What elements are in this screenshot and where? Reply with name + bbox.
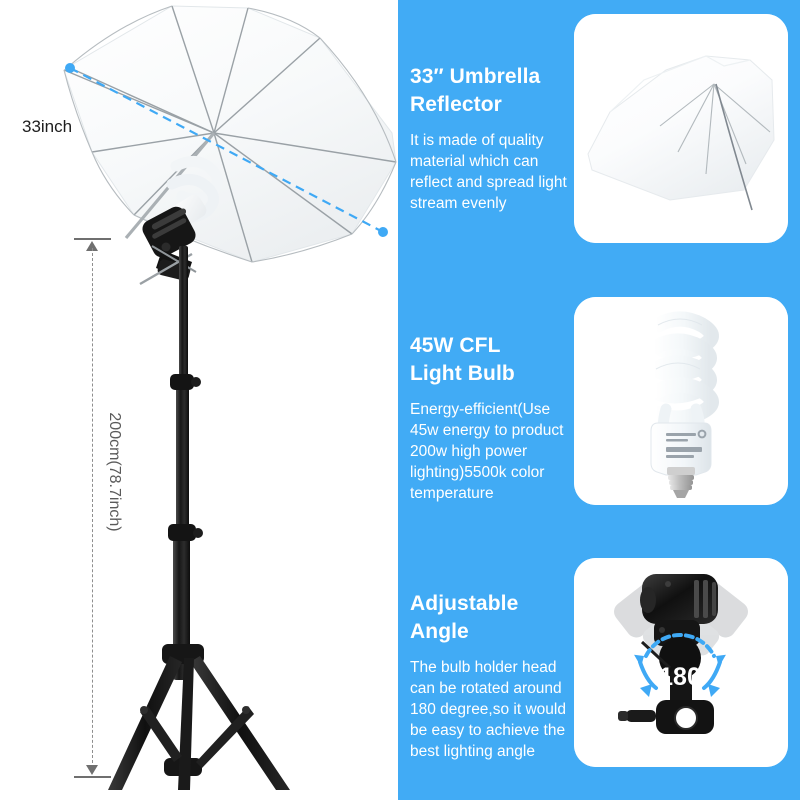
- feature-title-line-1: 45W CFL: [410, 334, 501, 357]
- feature-description: Energy-efficient(Use 45w energy to produ…: [410, 399, 578, 504]
- feature-title-line-1: Adjustable: [410, 592, 518, 615]
- feature-title-line-1: 33″ Umbrella: [410, 65, 540, 88]
- feature-image-card-holder: 180: [574, 558, 788, 767]
- features-panel: 33″ Umbrella Reflector It is made of qua…: [398, 0, 800, 800]
- feature-title: 45W CFL Light Bulb: [410, 332, 578, 388]
- umbrella-diameter-label: 33inch: [22, 117, 72, 137]
- stand-height-label: 200cm(78.7inch): [105, 392, 123, 552]
- rotation-badge-text: 180: [659, 663, 701, 691]
- feature-title-line-2: Angle: [410, 620, 469, 643]
- feature-umbrella-reflector: 33″ Umbrella Reflector It is made of qua…: [398, 0, 800, 270]
- feature-text-block: 45W CFL Light Bulb Energy-efficient(Use …: [410, 332, 578, 504]
- feature-image-card-bulb: [574, 297, 788, 505]
- feature-title-line-2: Light Bulb: [410, 362, 515, 385]
- feature-description: It is made of quality material which can…: [410, 130, 578, 214]
- dimension-cap-bottom: [74, 776, 111, 778]
- pole-section-mid: [176, 378, 189, 538]
- feature-cfl-light-bulb: 45W CFL Light Bulb Energy-efficient(Use …: [398, 270, 800, 555]
- feature-adjustable-angle: Adjustable Angle The bulb holder head ca…: [398, 555, 800, 800]
- feature-description: The bulb holder head can be rotated arou…: [410, 657, 578, 762]
- feature-title: Adjustable Angle: [410, 590, 578, 646]
- pole-section-top: [179, 246, 188, 386]
- stand-height-dimension: 200cm(78.7inch): [70, 238, 116, 778]
- light-stand-illustration: [100, 150, 350, 790]
- feature-image-card-umbrella: [574, 14, 788, 243]
- dimension-dashed-line: [92, 248, 93, 768]
- dimension-arrow-down-icon: [86, 765, 98, 775]
- feature-title: 33″ Umbrella Reflector: [410, 63, 578, 119]
- feature-title-line-2: Reflector: [410, 93, 502, 116]
- feature-text-block: Adjustable Angle The bulb holder head ca…: [410, 590, 578, 762]
- lock-collar-1: [170, 374, 194, 390]
- feature-text-block: 33″ Umbrella Reflector It is made of qua…: [410, 63, 578, 214]
- product-photo-panel: 33inch: [0, 0, 398, 800]
- lock-collar-2: [168, 524, 196, 541]
- dimension-cap-top: [74, 238, 111, 240]
- product-infographic: 33inch: [0, 0, 800, 800]
